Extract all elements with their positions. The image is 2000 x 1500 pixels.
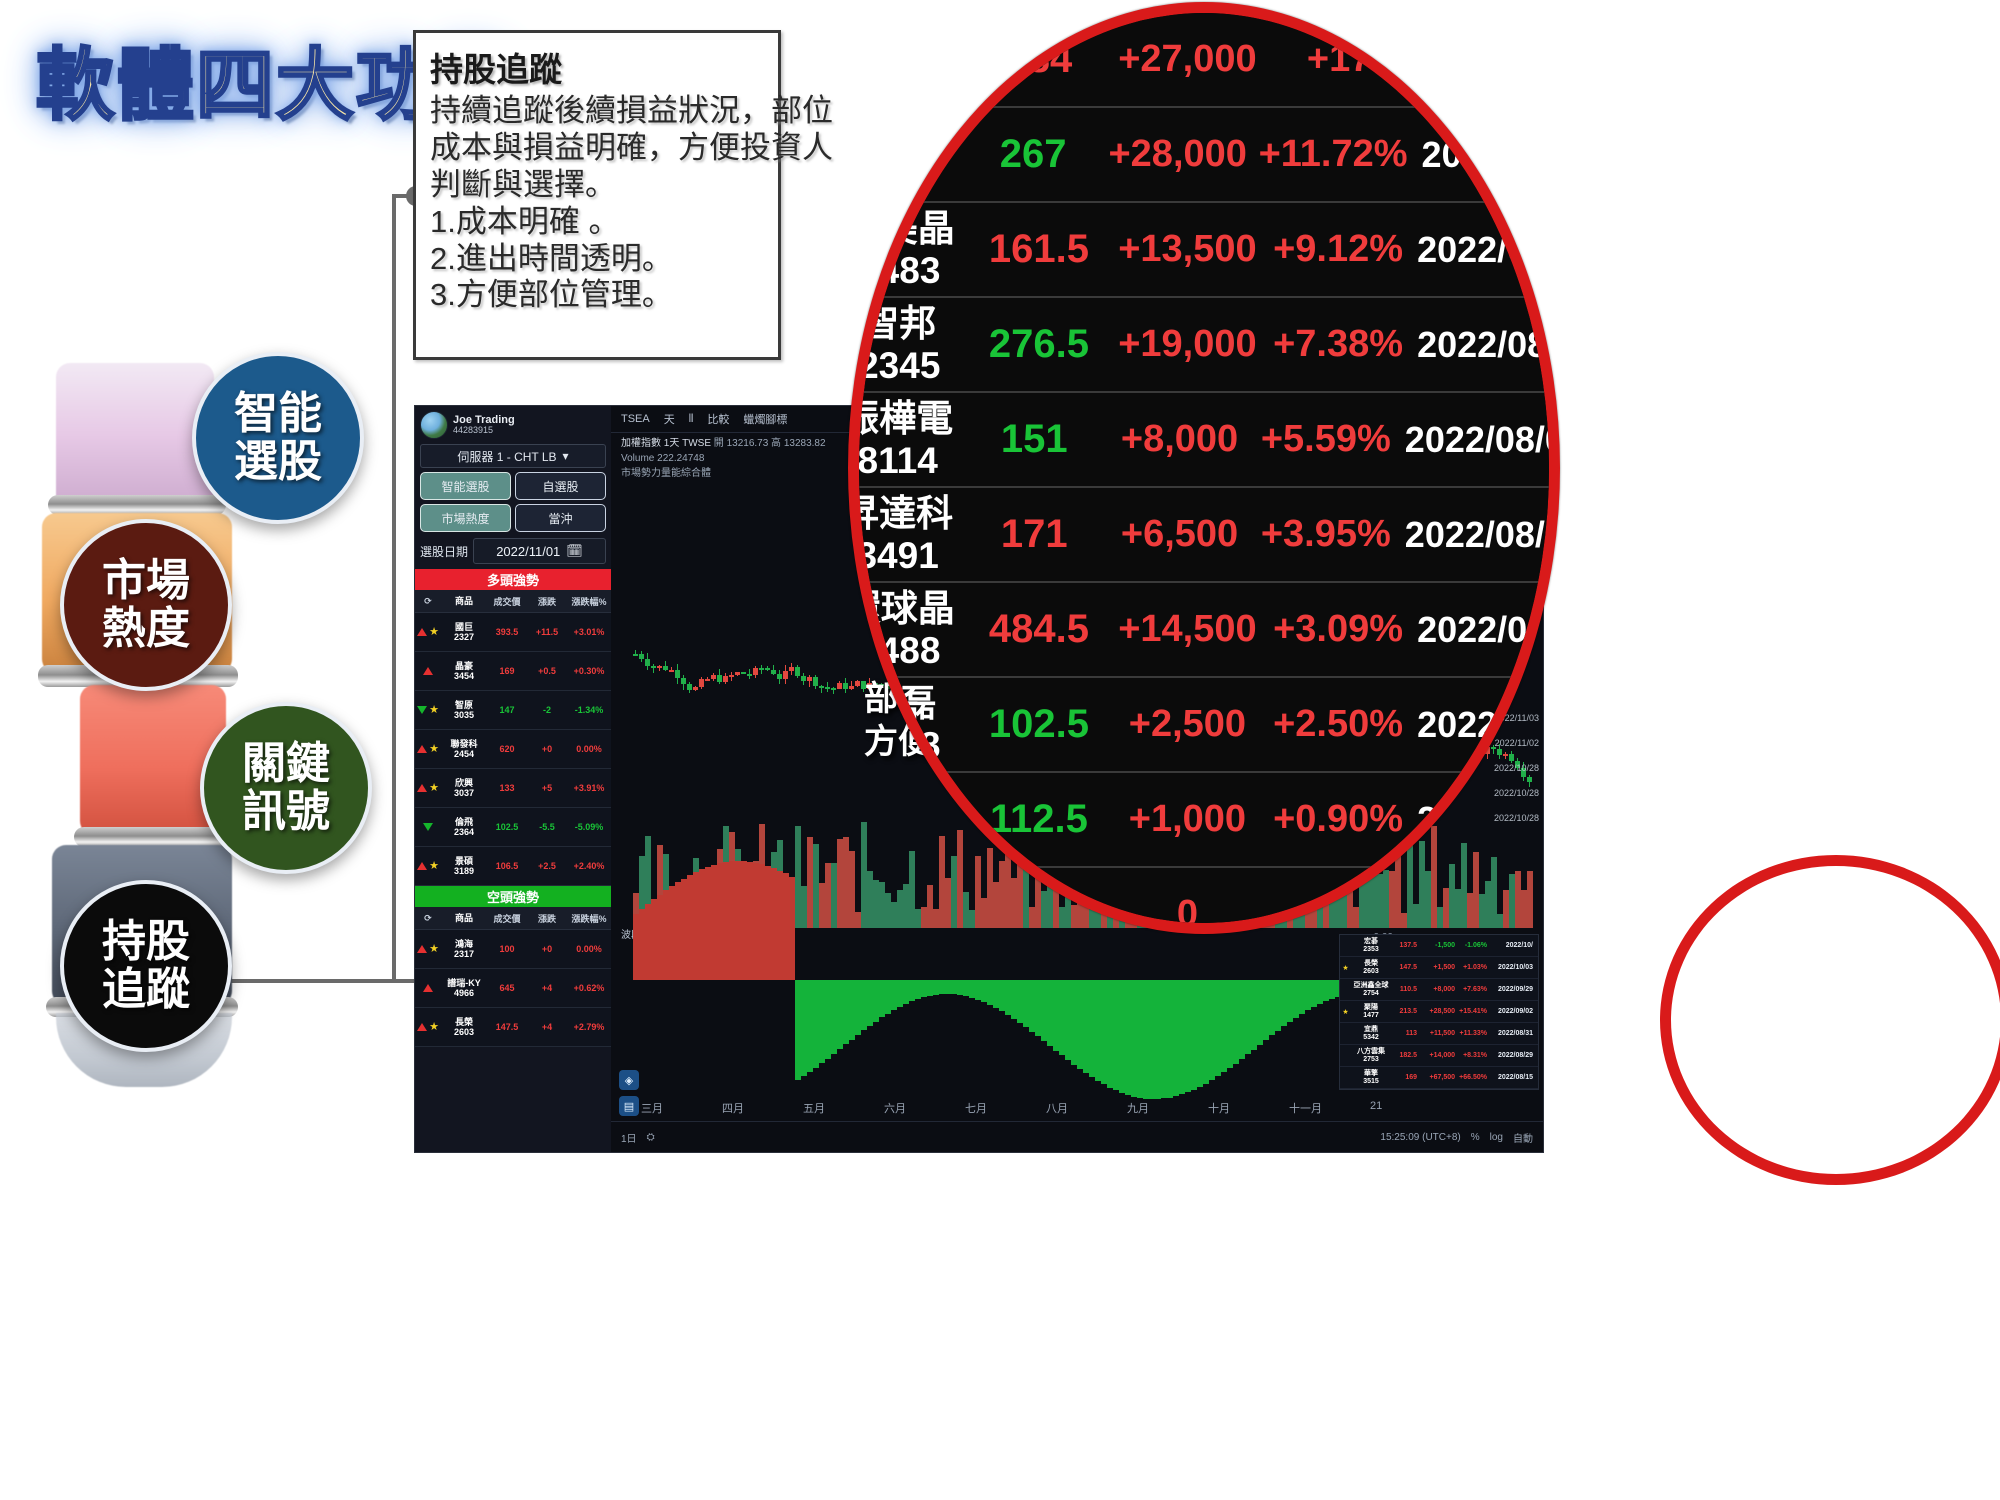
cell-change-pct: -5.09% [567, 822, 611, 832]
feature-circle-market-heat[interactable]: 市場 熱度 [60, 519, 232, 691]
cell-change-pct: -1.34% [567, 705, 611, 715]
position-row[interactable]: ★聚陽1477213.5+28,500+15.41%2022/09/02 [1340, 1001, 1538, 1023]
column-header-change-pct: 漲跌幅% [567, 595, 611, 608]
cell-product: 振樺電8114 [848, 398, 970, 481]
cell-price: 110.5 [1391, 986, 1417, 993]
candle-body [741, 672, 746, 674]
cell-pnl-pct: +2.50% [1270, 703, 1403, 746]
server-dropdown[interactable]: 伺服器 1 - CHT LB ▾ [420, 444, 606, 468]
x-axis-tick: 三月 [641, 1100, 663, 1116]
feature-circle-key-signal[interactable]: 關鍵 訊號 [200, 702, 372, 874]
cell-pnl-amount: +27,000 [1104, 38, 1270, 81]
cell-change: -5.5 [527, 822, 567, 832]
candle-body [747, 674, 752, 676]
candle-body [723, 676, 728, 682]
cell-price: 100 [487, 944, 527, 954]
cell-change: -2 [527, 705, 567, 715]
x-axis-tick: 四月 [722, 1100, 744, 1116]
position-row[interactable]: 華擎3515169+67,500+66.50%2022/08/15 [1340, 1067, 1538, 1089]
cell-date: 2022/10/03 [1487, 964, 1533, 971]
cell-price: 620 [487, 744, 527, 754]
section-header-short: 空頭強勢 [415, 886, 611, 907]
candle-body [681, 678, 686, 685]
callout-line: 2.進出時間透明。 [430, 241, 770, 278]
magnifier-circle-secondary [1660, 855, 2000, 1185]
date-picker-value: 2022/11/01 [496, 544, 560, 559]
candle-body [783, 671, 788, 679]
cell-pnl-pct: +3.95% [1261, 513, 1391, 556]
table-row[interactable]: ★智原3035147-2-1.34% [415, 691, 611, 730]
direction-icon: ★ [415, 1022, 441, 1033]
cell-price: 267 [970, 132, 1097, 177]
cell-product: 晶豪3454 [441, 661, 487, 682]
feature-label-line1: 市場 [102, 557, 190, 605]
cell-pnl-pct: -1.06% [1455, 942, 1487, 949]
callout-heading: 持股追蹤 [430, 43, 770, 91]
chart-period[interactable]: 天 [664, 411, 675, 427]
cell-product: 欣興3037 [441, 778, 487, 799]
column-header-product: 商品 [441, 913, 487, 923]
table-row[interactable]: ★國巨2327393.5+11.5+3.01% [415, 613, 611, 652]
chart-interval[interactable]: 1日 [621, 1130, 637, 1145]
tab-row-1: 智能選股 自選股 [415, 472, 611, 504]
table-row[interactable]: ★鴻海2317100+00.00% [415, 930, 611, 969]
x-axis-tick: 十月 [1208, 1100, 1230, 1116]
cell-price: 161.5 [974, 227, 1105, 272]
chart-compare[interactable]: 比較 [707, 411, 729, 427]
cell-change-pct: +0.30% [567, 666, 611, 676]
cell-product: 八方雲集2753 [1351, 1048, 1391, 1063]
candle-body [825, 687, 830, 689]
cell-price: 147 [487, 705, 527, 715]
candle-body [753, 668, 758, 675]
cell-price: 169 [1391, 1074, 1417, 1081]
cell-product: 亞洲鑫全球2754 [1351, 982, 1391, 997]
cell-pnl-pct: +7.63% [1455, 986, 1487, 993]
cell-date: 2022/08/03 [1391, 514, 1560, 556]
tab-day-trade[interactable]: 當沖 [515, 504, 606, 532]
direction-icon: ★ [415, 705, 441, 716]
feature-label-line2: 選股 [234, 438, 322, 486]
table-header-long: ⟳ 商品 成交價 漲跌 漲跌幅% [415, 590, 611, 613]
direction-icon: ★ [415, 783, 441, 794]
magnified-table-row: 中磊5388102.5+2,500+2.50%2022/08 [848, 678, 1560, 773]
magnified-table-row: 508267+28,000+11.72%2022 [848, 108, 1560, 203]
position-row[interactable]: 宜鼎5342113+11,500+11.33%2022/08/31 [1340, 1023, 1538, 1045]
cell-pnl-amount: +28,000 [1097, 133, 1259, 176]
chart-volume-label: Volume 222.24748 [621, 453, 704, 464]
column-header-change: 漲跌 [527, 912, 567, 925]
table-row[interactable]: 晶豪3454169+0.5+0.30% [415, 652, 611, 691]
chart-symbol[interactable]: TSEA [621, 413, 650, 425]
star-icon[interactable]: ★ [429, 944, 439, 955]
magnified-table-row: 振樺電8114151+8,000+5.59%2022/08/02 [848, 393, 1560, 488]
candle-body [837, 683, 842, 689]
feature-label-line2: 追蹤 [102, 966, 190, 1014]
cell-pnl-pct: +5.59% [1261, 418, 1391, 461]
star-icon[interactable]: ★ [429, 744, 439, 755]
candle-body [843, 683, 848, 689]
server-dropdown-label: 伺服器 1 - CHT LB [457, 448, 556, 465]
column-header-change-pct: 漲跌幅% [567, 912, 611, 925]
cell-change: +5 [527, 783, 567, 793]
cell-price: 137.5 [1391, 942, 1417, 949]
table-header-short: ⟳ 商品 成交價 漲跌 漲跌幅% [415, 907, 611, 930]
cell-date: 2022/09/02 [1487, 1008, 1533, 1015]
tab-smart-pick[interactable]: 智能選股 [420, 472, 511, 500]
candle-body [669, 670, 674, 672]
feature-label-line1: 關鍵 [242, 740, 330, 788]
cell-change: +0.5 [527, 666, 567, 676]
tab-row-2: 市場熱度 當沖 [415, 504, 611, 536]
candle-body [831, 688, 836, 690]
macd-bar [789, 877, 795, 980]
cell-pnl-amount: -1,500 [1417, 942, 1455, 949]
cell-pnl-amount: +28,500 [1417, 1008, 1455, 1015]
position-row[interactable]: ★長榮2603147.5+1,500+1.03%2022/10/03 [1340, 957, 1538, 979]
stock-screener-panel: Joe Trading 44283915 伺服器 1 - CHT LB ▾ 智能… [415, 406, 611, 1152]
cell-change-pct: +3.91% [567, 783, 611, 793]
refresh-icon[interactable]: ⟳ [415, 913, 441, 924]
chart-clock: 15:25:09 (UTC+8) [1380, 1132, 1460, 1143]
cell-price: 213.5 [1391, 1008, 1417, 1015]
cell-pnl-amount: +2,500 [1104, 703, 1270, 746]
magnified-positions-table: 484+27,000+17.2508267+28,000+11.72%2022中… [848, 13, 1560, 934]
cell-pnl-pct: +66.50% [1455, 1074, 1487, 1081]
cell-product: 長榮2603 [1351, 960, 1391, 975]
star-icon[interactable]: ★ [429, 627, 439, 638]
candle-body [765, 668, 770, 670]
chart-header-text: 加權指數 1天 TWSE [621, 438, 711, 449]
callout-line: 判斷與選擇。 [430, 167, 770, 204]
cell-product: 智邦2345 [848, 303, 974, 386]
cell-pnl-pct: +1.03% [1455, 964, 1487, 971]
magnifier-circle: 484+27,000+17.2508267+28,000+11.72%2022中… [848, 2, 1560, 934]
cell-date: 2022/09/29 [1487, 986, 1533, 993]
candle-body [735, 672, 740, 674]
cell-date: 2022/10/ [1487, 942, 1533, 949]
candle-body [699, 679, 704, 687]
star-icon[interactable]: ★ [429, 705, 439, 716]
cell-pnl-amount: +8,000 [1098, 418, 1261, 461]
direction-icon: ★ [415, 944, 441, 955]
table-row[interactable]: 譜瑞-KY4966645+4+0.62% [415, 969, 611, 1008]
star-icon[interactable]: ★ [1340, 1008, 1351, 1016]
chart-settings-icon[interactable]: ⛭ [647, 1132, 655, 1143]
cell-product: 鴻海2317 [441, 939, 487, 960]
candle-body [771, 670, 776, 675]
direction-icon: ★ [415, 861, 441, 872]
cell-product: 華擎3515 [1351, 1070, 1391, 1085]
direction-icon: ★ [415, 627, 441, 638]
cell-price: 102.5 [974, 702, 1105, 747]
cell-price: 147.5 [1391, 964, 1417, 971]
magnified-table-row: 鴻海112.5+1,000+0.90%202 [848, 773, 1560, 868]
direction-icon [415, 667, 441, 675]
cell-date: 2022/08 [1403, 229, 1560, 271]
cell-product: 景碩3189 [441, 856, 487, 877]
section-header-long: 多頭強勢 [415, 569, 611, 590]
chart-ohlc: 開 13216.73 高 13283.82 [714, 438, 826, 449]
cell-pnl-amount: +14,000 [1417, 1052, 1455, 1059]
tab-market-heat[interactable]: 市場熱度 [420, 504, 511, 532]
cell-product: 宜鼎5342 [1351, 1026, 1391, 1041]
cell-pnl-pct: +9.12% [1270, 228, 1403, 271]
magnified-table-row: 484+27,000+17.2 [848, 13, 1560, 108]
chart-candle-style[interactable]: 蠟燭腳標 [743, 411, 787, 427]
cell-product: 宏碁2353 [1351, 938, 1391, 953]
x-axis-ticks: 三月四月五月六月七月八月九月十月十一月21 [611, 1100, 1543, 1118]
candle-body [663, 666, 668, 671]
cell-change: +4 [527, 1022, 567, 1032]
chart-log-toggle[interactable]: log [1490, 1132, 1503, 1143]
cell-pnl-amount: +13,500 [1104, 228, 1270, 271]
x-axis-tick: 六月 [884, 1100, 906, 1116]
cell-date: 2022 [1408, 134, 1560, 176]
cell-change: +0 [527, 944, 567, 954]
magnified-table-row: 昇達科3491171+6,500+3.95%2022/08/03 [848, 488, 1560, 583]
cell-product: 智原3035 [441, 700, 487, 721]
column-header-product: 商品 [441, 596, 487, 606]
feature-label-line1: 持股 [102, 918, 190, 966]
cell-date: 2022/08/0 [1403, 609, 1560, 651]
candle-body [777, 674, 782, 678]
candle-body [657, 666, 662, 668]
candle-body [693, 687, 698, 690]
callout-box: 持股追蹤 持續追蹤後續損益狀況，部位 成本與損益明確，方便投資人 判斷與選擇。 … [413, 30, 781, 360]
cell-date: 2022/08/15 [1487, 1074, 1533, 1081]
chart-footer: 1日 ⛭ 15:25:09 (UTC+8) % log 自動 [611, 1121, 1543, 1152]
date-picker-label: 選股日期 [420, 543, 468, 560]
column-header-price: 成交價 [487, 912, 527, 925]
positions-mini-table: 宏碁2353137.5-1,500-1.06%2022/10/★長榮260314… [1339, 934, 1539, 1090]
cell-date: 2022/08/29 [1487, 1052, 1533, 1059]
candle-body [813, 677, 818, 686]
column-header-price: 成交價 [487, 595, 527, 608]
cell-pnl-pct: +11.33% [1455, 1030, 1487, 1037]
cell-product: 長榮2603 [441, 1017, 487, 1038]
cell-date: 202 [1403, 799, 1560, 841]
candle-body [705, 679, 710, 681]
candle-body [687, 684, 692, 690]
cell-date: 2022/08/02 [1391, 419, 1560, 461]
cell-change-pct: 0.00% [567, 944, 611, 954]
candle-body [675, 670, 680, 678]
table-row[interactable]: ★長榮2603147.5+4+2.79% [415, 1008, 611, 1047]
magnified-table-row: 環球晶6488484.5+14,500+3.09%2022/08/0 [848, 583, 1560, 678]
candle-body [795, 667, 800, 675]
star-icon[interactable]: ★ [429, 1022, 439, 1033]
callout-line: 1.成本明確 。 [430, 204, 770, 241]
cell-price: 182.5 [1391, 1052, 1417, 1059]
direction-icon: ★ [415, 744, 441, 755]
cell-product: 中美晶5483 [848, 208, 974, 291]
cell-product: 倫飛2364 [441, 817, 487, 838]
cell-change: +2.5 [527, 861, 567, 871]
candle-body [807, 677, 812, 681]
star-icon[interactable]: ★ [429, 783, 439, 794]
x-axis-tick: 五月 [803, 1100, 825, 1116]
cell-price: 112.5 [974, 797, 1105, 842]
cell-pnl-pct: +11.72% [1259, 133, 1408, 176]
x-axis-tick: 九月 [1127, 1100, 1149, 1116]
cell-pnl-amount: +11,500 [1417, 1030, 1455, 1037]
cell-product: 昇達科3491 [848, 493, 970, 576]
connector-line-vertical [392, 196, 396, 983]
cell-date: 2022/08/31 [1487, 1030, 1533, 1037]
cell-product: 環球晶6488 [848, 588, 974, 671]
cell-pnl-pct: +3.09% [1270, 608, 1403, 651]
cell-price: 171 [970, 512, 1098, 557]
cell-product: 國巨2327 [441, 622, 487, 643]
x-axis-tick: 21 [1370, 1100, 1382, 1112]
column-header-change: 漲跌 [527, 595, 567, 608]
cell-pnl-pct: +7.38% [1270, 323, 1403, 366]
cell-price: 484.5 [974, 607, 1105, 652]
cell-product: 中磊5388 [848, 683, 974, 766]
cell-change: +0 [527, 744, 567, 754]
callout-line: 3.方便部位管理。 [430, 277, 770, 314]
x-axis-tick: 八月 [1046, 1100, 1068, 1116]
cell-product: 508 [848, 113, 970, 196]
candle-body [789, 667, 794, 671]
candle-body [729, 675, 734, 677]
candle-body [801, 676, 806, 681]
magnified-table-row: 智邦2345276.5+19,000+7.38%2022/08/0 [848, 298, 1560, 393]
cell-change-pct: 0.00% [567, 744, 611, 754]
tab-watchlist[interactable]: 自選股 [515, 472, 606, 500]
avatar [420, 411, 448, 439]
candle-body [645, 659, 650, 666]
cell-price: 484 [974, 37, 1105, 82]
cell-pnl-amount: +1,000 [1104, 798, 1270, 841]
cell-pnl-pct: +17.2 [1270, 38, 1403, 81]
star-icon[interactable]: ★ [1340, 964, 1351, 972]
alert-icon[interactable]: ▤ [619, 1096, 639, 1116]
chevron-down-icon: ▾ [563, 449, 569, 463]
long-rows-container: ★國巨2327393.5+11.5+3.01%晶豪3454169+0.5+0.3… [415, 613, 611, 886]
direction-icon [415, 823, 441, 831]
account-row: Joe Trading 44283915 [415, 406, 611, 441]
cell-price: 133 [487, 783, 527, 793]
cell-pnl-amount: +67,500 [1417, 1074, 1455, 1081]
feature-circle-smart-stock-pick[interactable]: 智能 選股 [192, 352, 364, 524]
cell-pnl-amount: +1,500 [1417, 964, 1455, 971]
table-row[interactable]: ★聯發科2454620+00.00% [415, 730, 611, 769]
chart-percent-toggle[interactable]: % [1471, 1132, 1480, 1143]
position-row[interactable]: 亞洲鑫全球2754110.5+8,000+7.63%2022/09/29 [1340, 979, 1538, 1001]
calendar-icon[interactable]: 🗓 [566, 543, 583, 559]
cell-pnl-amount: +8,000 [1417, 986, 1455, 993]
candle-body [717, 675, 722, 682]
x-axis-tick: 十一月 [1289, 1100, 1322, 1116]
cell-change: +4 [527, 983, 567, 993]
cell-price: 147.5 [487, 1022, 527, 1032]
position-row[interactable]: 八方雲集2753182.5+14,000+8.31%2022/08/29 [1340, 1045, 1538, 1067]
cell-product: 鴻海 [848, 799, 974, 840]
star-icon[interactable]: ★ [429, 861, 439, 872]
cell-date: 2022/08/0 [1403, 324, 1560, 366]
candle-body [651, 666, 656, 668]
position-row[interactable]: 宏碁2353137.5-1,500-1.06%2022/10/ [1340, 935, 1538, 957]
callout-line: 成本與損益明確，方便投資人 [430, 130, 770, 167]
candle-body [639, 654, 644, 659]
cell-pnl-pct: +0.90% [1270, 798, 1403, 841]
indicator-icon[interactable]: ⫴ [689, 413, 694, 426]
refresh-icon[interactable]: ⟳ [415, 596, 441, 607]
cell-price: 393.5 [487, 627, 527, 637]
cell-change-pct: +2.40% [567, 861, 611, 871]
candle-body [711, 675, 716, 679]
cell-pnl-pct: +15.41% [1455, 1008, 1487, 1015]
cell-change-pct: +0.62% [567, 983, 611, 993]
cell-product: 聚陽1477 [1351, 1004, 1391, 1019]
cell-date: 2022/08 [1403, 704, 1560, 746]
magnified-table-row: 中美晶5483161.5+13,500+9.12%2022/08 [848, 203, 1560, 298]
feature-circle-holding-tracking[interactable]: 持股 追蹤 [60, 880, 232, 1052]
candle-body [849, 686, 854, 688]
cell-pnl-amount: +6,500 [1098, 513, 1261, 556]
table-row[interactable]: ★欣興3037133+5+3.91% [415, 769, 611, 808]
table-row[interactable]: 倫飛2364102.5-5.5-5.09% [415, 808, 611, 847]
cell-change: +11.5 [527, 627, 567, 637]
cell-change-pct: +2.79% [567, 1022, 611, 1032]
feature-label-line2: 熱度 [102, 605, 190, 653]
feature-label-line1: 智能 [234, 390, 322, 438]
date-picker-row: 選股日期 2022/11/01 🗓 [415, 536, 611, 569]
cell-product: 譜瑞-KY4966 [441, 978, 487, 999]
cell-pnl-amount: +19,000 [1104, 323, 1270, 366]
cell-product: 聯發科2454 [441, 739, 487, 760]
x-axis-tick: 七月 [965, 1100, 987, 1116]
layers-icon[interactable]: ◈ [619, 1070, 639, 1090]
direction-icon [415, 984, 441, 992]
cell-pnl-amount: +14,500 [1104, 608, 1270, 651]
candle-body [819, 686, 824, 688]
cell-price: 102.5 [487, 822, 527, 832]
chart-auto-toggle[interactable]: 自動 [1513, 1130, 1533, 1145]
cell-price: 276.5 [974, 322, 1105, 367]
cell-price: 151 [970, 417, 1098, 462]
candle-body [633, 654, 638, 656]
candle-body [759, 668, 764, 670]
date-picker-input[interactable]: 2022/11/01 🗓 [473, 538, 606, 564]
cell-price: 169 [487, 666, 527, 676]
cell-price: 645 [487, 983, 527, 993]
table-row[interactable]: ★景碩3189106.5+2.5+2.40% [415, 847, 611, 886]
short-rows-container: ★鴻海2317100+00.00%譜瑞-KY4966645+4+0.62%★長榮… [415, 930, 611, 1047]
account-id: 44283915 [453, 426, 515, 435]
cell-price: 113 [1391, 1030, 1417, 1037]
cell-price: 106.5 [487, 861, 527, 871]
feature-label-line2: 訊號 [242, 788, 330, 836]
cell-pnl-pct: +8.31% [1455, 1052, 1487, 1059]
callout-line: 持續追蹤後續損益狀況，部位 [430, 93, 770, 130]
cell-change-pct: +3.01% [567, 627, 611, 637]
